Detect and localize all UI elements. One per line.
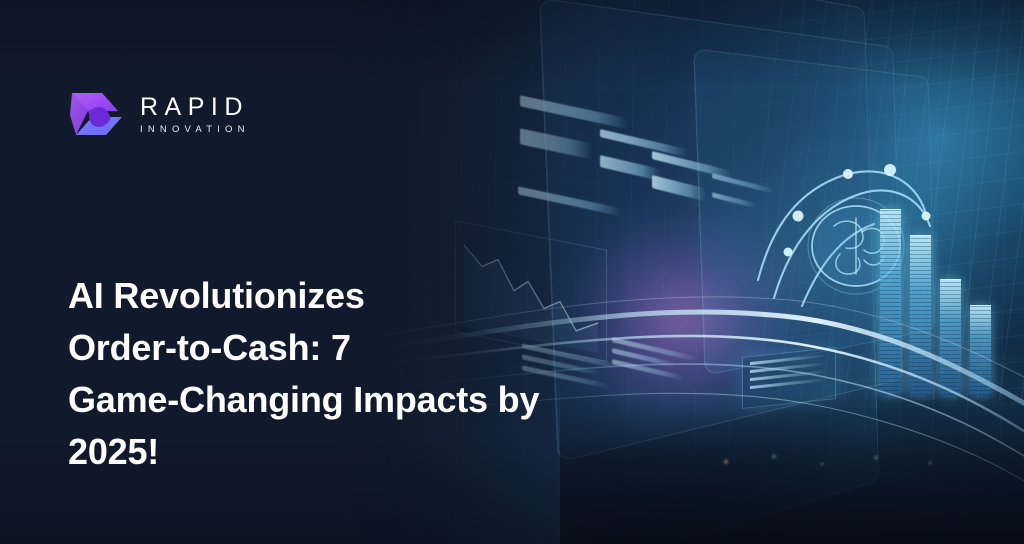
- blog-hero-banner: RAPID INNOVATION AI Revolutionizes Order…: [0, 0, 1024, 544]
- headline-line-4: 2025!: [68, 426, 628, 478]
- rapid-innovation-chevron-logo-icon: [68, 88, 126, 140]
- brand-tagline: INNOVATION: [140, 124, 250, 135]
- city-lights: [690, 446, 990, 472]
- brand-wordmark: RAPID INNOVATION: [140, 92, 250, 136]
- headline-line-1: AI Revolutionizes: [68, 270, 628, 322]
- brand-logo[interactable]: RAPID INNOVATION: [68, 88, 250, 140]
- headline-line-2: Order-to-Cash: 7: [68, 322, 628, 374]
- headline: AI Revolutionizes Order-to-Cash: 7 Game-…: [68, 270, 628, 478]
- brand-name: RAPID: [140, 94, 250, 120]
- headline-line-3: Game-Changing Impacts by: [68, 374, 628, 426]
